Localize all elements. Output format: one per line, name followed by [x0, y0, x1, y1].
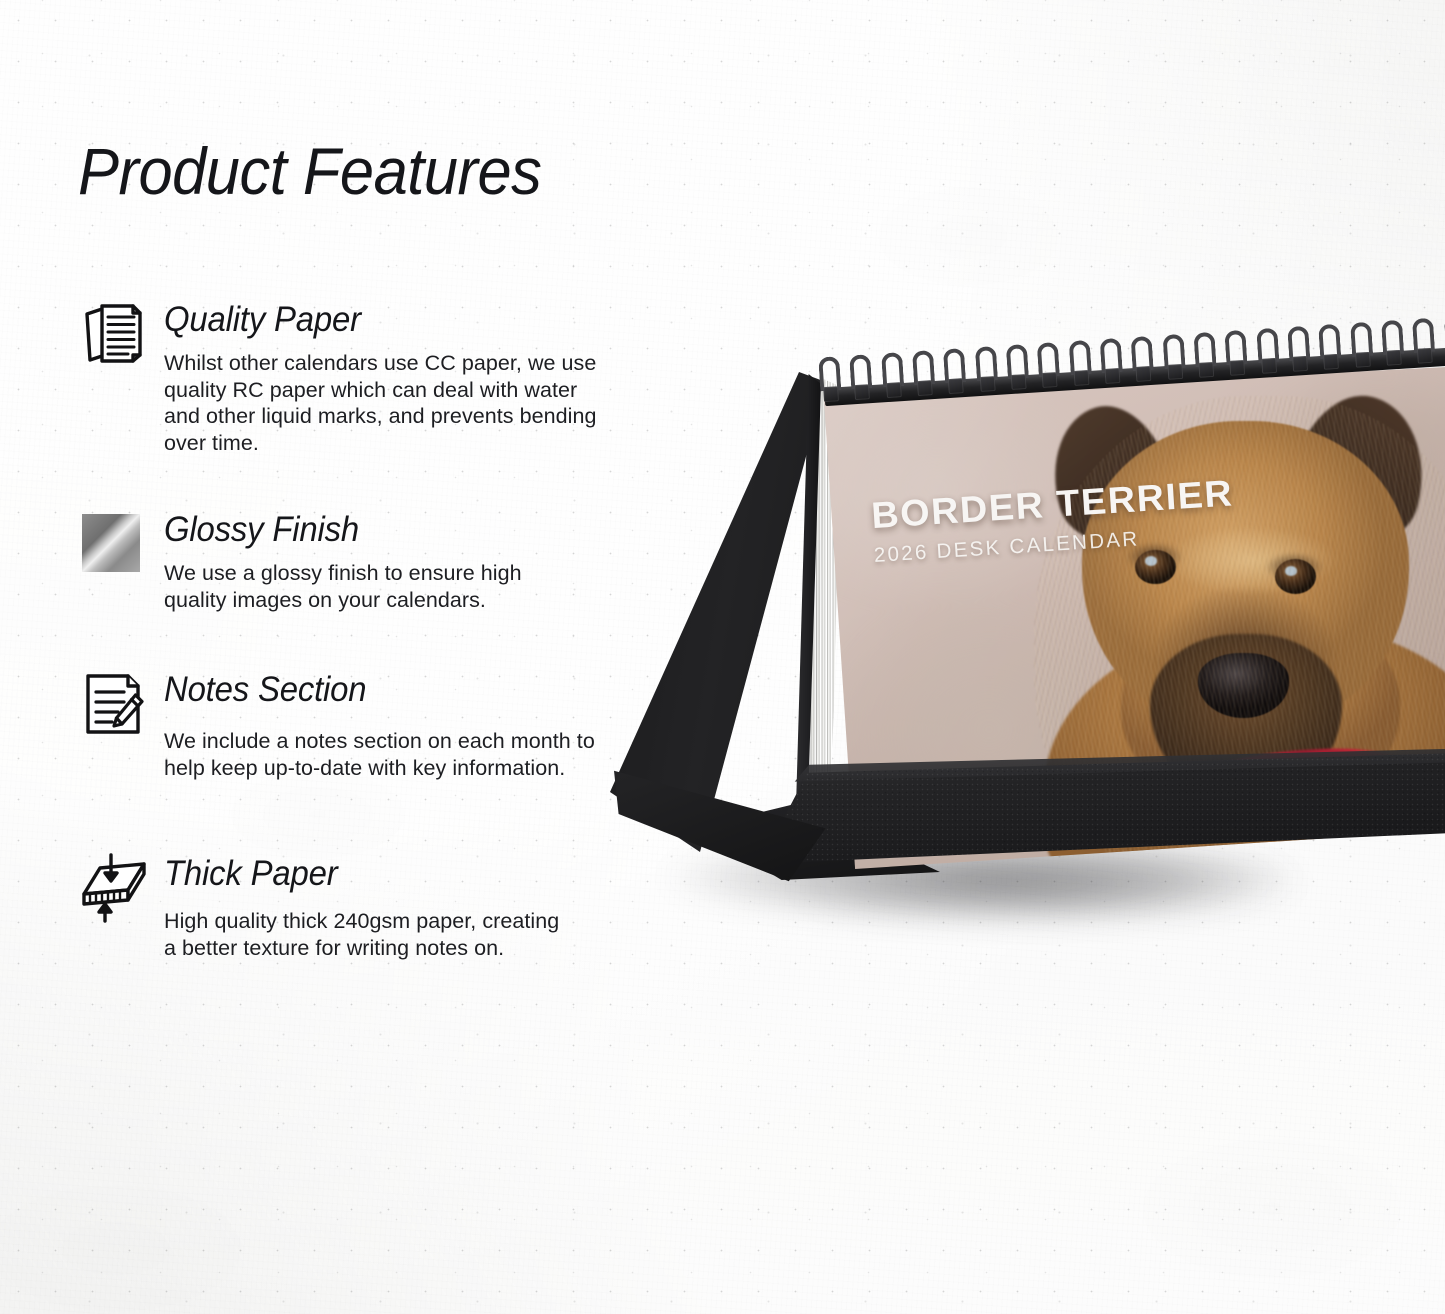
spiral-coil [1287, 326, 1311, 371]
feature-title: Notes Section [164, 670, 366, 710]
spiral-coil [1006, 344, 1030, 389]
feature-description: High quality thick 240gsm paper, creatin… [164, 908, 564, 961]
spiral-coil [975, 346, 999, 391]
feature-description: We include a notes section on each month… [164, 728, 632, 781]
spiral-coil [1037, 342, 1061, 387]
spiral-coil [818, 356, 842, 401]
spiral-coil [1193, 332, 1217, 377]
feature-title: Thick Paper [164, 854, 337, 894]
spiral-coil [943, 348, 967, 393]
spiral-coil [1225, 330, 1249, 375]
document-pencil-icon [78, 668, 150, 740]
spiral-coil [1412, 318, 1436, 363]
feature-description: We use a glossy finish to ensure high qu… [164, 560, 584, 613]
feature-title: Quality Paper [164, 300, 361, 340]
stacked-documents-icon [78, 298, 150, 370]
gloss-swatch-icon [78, 508, 150, 580]
gloss-swatch-square [82, 514, 140, 572]
spiral-coil [1381, 320, 1405, 365]
spiral-coil [1131, 336, 1155, 381]
spiral-coil [912, 350, 936, 395]
spiral-coil [849, 354, 873, 399]
features-panel: Product Features Qu [0, 0, 660, 1314]
spiral-coil [1162, 334, 1186, 379]
feature-description: Whilst other calendars use CC paper, we … [164, 350, 616, 456]
spiral-coil [1256, 328, 1280, 373]
thick-paper-slab-icon [78, 852, 150, 924]
page-title: Product Features [78, 133, 541, 209]
spiral-coil [1068, 340, 1092, 385]
spiral-coil [1100, 338, 1124, 383]
desk-calendar-product-image: BORDER TERRIER 2026 DESK CALENDAR [570, 300, 1445, 1000]
spiral-coil [881, 352, 905, 397]
spiral-coil [1350, 322, 1374, 367]
feature-title: Glossy Finish [164, 510, 359, 550]
spiral-coil [1318, 324, 1342, 369]
